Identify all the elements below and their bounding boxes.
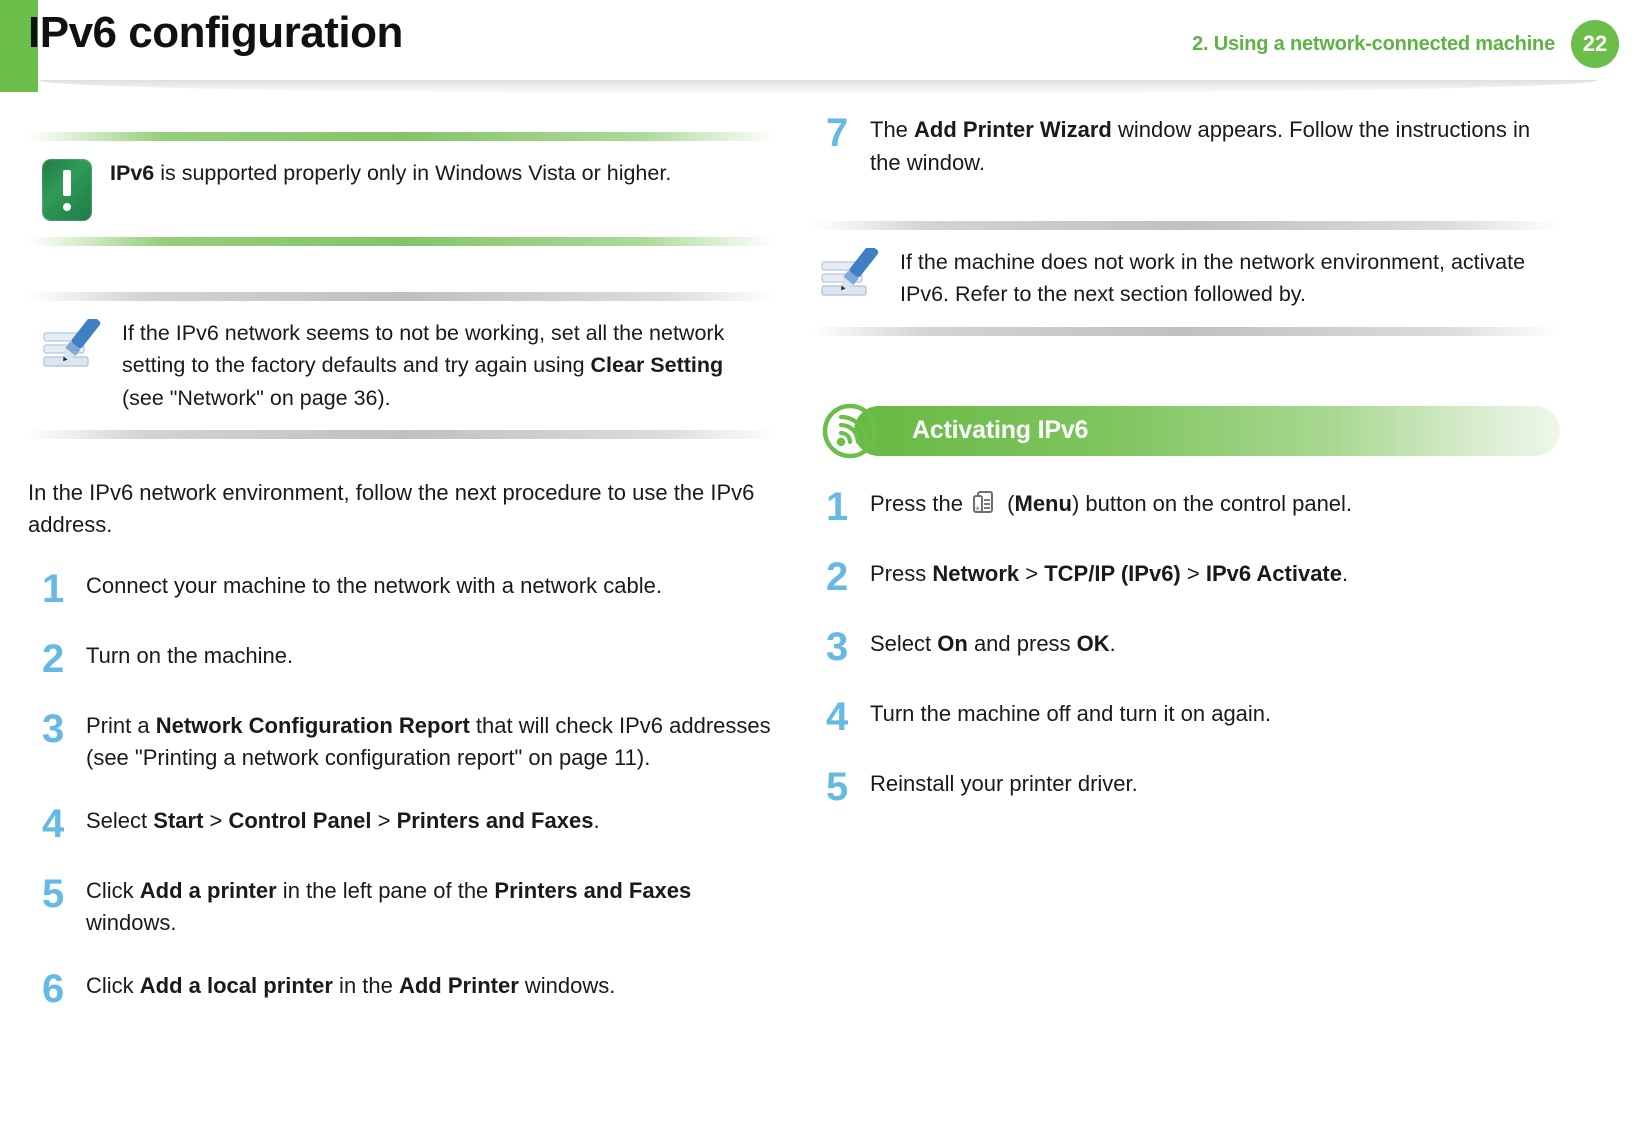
step-text-mid1: >	[1019, 561, 1044, 586]
step-number: 4	[28, 803, 86, 845]
page-number-badge: 22	[1571, 20, 1619, 68]
step-item: 4 Turn the machine off and turn it on ag…	[812, 696, 1560, 738]
info-note-body-right: If the machine does not work in the netw…	[812, 230, 1560, 327]
step-text-mid1: and press	[968, 631, 1077, 656]
step-text-post: .	[593, 808, 599, 833]
step-text-mid2: >	[371, 808, 396, 833]
step-text: Press the * (Menu) button on the control…	[870, 486, 1560, 521]
note-rule-bottom	[28, 237, 776, 246]
step-text: Click Add a printer in the left pane of …	[86, 873, 776, 940]
step-number: 7	[812, 112, 870, 154]
step-number: 4	[812, 696, 870, 738]
menu-button-icon: *	[972, 489, 998, 517]
step-text-mid1: (	[1001, 491, 1014, 516]
step-number: 1	[28, 568, 86, 610]
info-note-text-right: If the machine does not work in the netw…	[900, 246, 1554, 311]
step-item: 6 Click Add a local printer in the Add P…	[28, 968, 776, 1010]
step-text: Connect your machine to the network with…	[86, 568, 776, 603]
step-text: Press Network > TCP/IP (IPv6) > IPv6 Act…	[870, 556, 1560, 591]
step-text-bold: On	[937, 631, 968, 656]
step-text-bold3: IPv6 Activate	[1206, 561, 1342, 586]
step-text-bold3: Printers and Faxes	[397, 808, 594, 833]
caution-note-box: IPv6 is supported properly only in Windo…	[28, 118, 776, 260]
step-text-post: .	[1342, 561, 1348, 586]
left-column: IPv6 is supported properly only in Windo…	[28, 118, 776, 1038]
page-title: IPv6 configuration	[28, 8, 403, 58]
step-text-bold: Add a printer	[140, 878, 277, 903]
step-text: Turn the machine off and turn it on agai…	[870, 696, 1560, 731]
info-rule-top-right	[812, 221, 1560, 230]
step-text-pre: Press	[870, 561, 932, 586]
step-number: 1	[812, 486, 870, 528]
caution-note-rest: is supported properly only in Windows Vi…	[154, 161, 671, 185]
step-item: 5 Click Add a printer in the left pane o…	[28, 873, 776, 940]
step-item: 1 Press the * (Menu) button on the contr…	[812, 486, 1560, 528]
step-item: 1 Connect your machine to the network wi…	[28, 568, 776, 610]
step-number: 3	[812, 626, 870, 668]
step-text-pre: Click	[86, 878, 140, 903]
step-item: 3 Select On and press OK.	[812, 626, 1560, 668]
header-meta: 2. Using a network-connected machine 22	[1192, 20, 1619, 68]
step-text-pre: Print a	[86, 713, 156, 738]
step-text-bold: Menu	[1015, 491, 1072, 516]
right-column: 7 The Add Printer Wizard window appears.…	[812, 118, 1560, 836]
step-text-mid1: in the	[333, 973, 399, 998]
step-text-bold2: OK	[1077, 631, 1110, 656]
step-text: Turn on the machine.	[86, 638, 776, 673]
step-number: 5	[812, 766, 870, 808]
note-pen-icon	[820, 248, 882, 306]
step-text: Select Start > Control Panel > Printers …	[86, 803, 776, 838]
section-header: Activating IPv6	[812, 402, 1560, 460]
step-text-mid2: >	[1181, 561, 1206, 586]
step-text-bold: Network	[932, 561, 1019, 586]
step-number: 2	[28, 638, 86, 680]
step-text: Print a Network Configuration Report tha…	[86, 708, 776, 775]
info-note-text-left: If the IPv6 network seems to not be work…	[122, 317, 770, 414]
caution-note-text: IPv6 is supported properly only in Windo…	[110, 157, 770, 189]
info-rule-top-left	[28, 292, 776, 301]
section-header-title: Activating IPv6	[912, 416, 1088, 445]
step-item: 5 Reinstall your printer driver.	[812, 766, 1560, 808]
info-note-line3-rest: (see "Network" on page 36).	[122, 386, 391, 410]
svg-text:*: *	[975, 503, 980, 517]
note-rule-top	[28, 132, 776, 141]
step-text-post: .	[1110, 631, 1116, 656]
step-number: 5	[28, 873, 86, 915]
note-pen-icon	[42, 319, 104, 377]
info-rule-bottom-right	[812, 327, 1560, 336]
step-number: 3	[28, 708, 86, 750]
step-text-bold2: Add Printer	[399, 973, 519, 998]
step-item: 2 Turn on the machine.	[28, 638, 776, 680]
step-text-post: windows.	[519, 973, 616, 998]
wireless-signal-icon	[812, 402, 892, 460]
caution-note-body: IPv6 is supported properly only in Windo…	[28, 141, 776, 237]
step-text-mid2: ) button on the control panel.	[1072, 491, 1352, 516]
step-text-bold: Add Printer Wizard	[914, 117, 1112, 142]
step-item: 3 Print a Network Configuration Report t…	[28, 708, 776, 775]
intro-paragraph: In the IPv6 network environment, follow …	[28, 477, 776, 542]
info-note-line1: If the machine does not work in the netw…	[900, 250, 1445, 274]
header-shadow	[38, 80, 1598, 94]
right-steps-list: 1 Press the * (Menu) button on the contr…	[812, 486, 1560, 808]
step-item: 2 Press Network > TCP/IP (IPv6) > IPv6 A…	[812, 556, 1560, 598]
step-text-pre: Click	[86, 973, 140, 998]
info-note-box-right: If the machine does not work in the netw…	[812, 207, 1560, 350]
info-note-line1: If the IPv6 network seems to not be work…	[122, 321, 643, 345]
step-text-pre: Select	[86, 808, 153, 833]
step-text: Select On and press OK.	[870, 626, 1560, 661]
step-text: The Add Printer Wizard window appears. F…	[870, 112, 1560, 179]
page-header: IPv6 configuration 2. Using a network-co…	[0, 0, 1641, 92]
step-text: Reinstall your printer driver.	[870, 766, 1560, 801]
info-note-box-left: If the IPv6 network seems to not be work…	[28, 278, 776, 453]
step-text-bold: Network Configuration Report	[156, 713, 470, 738]
step-text-bold2: TCP/IP (IPv6)	[1044, 561, 1181, 586]
step-number: 2	[812, 556, 870, 598]
info-note-body-left: If the IPv6 network seems to not be work…	[28, 301, 776, 430]
step-text-bold: Add a local printer	[140, 973, 333, 998]
step-text-pre: The	[870, 117, 914, 142]
step-item: 7 The Add Printer Wizard window appears.…	[812, 112, 1560, 179]
caution-note-bold: IPv6	[110, 161, 154, 185]
step-text: Click Add a local printer in the Add Pri…	[86, 968, 776, 1003]
chapter-label: 2. Using a network-connected machine	[1192, 33, 1555, 56]
step-text-mid1: in the left pane of the	[277, 878, 495, 903]
info-note-bold: Clear Setting	[591, 353, 724, 377]
step-number: 6	[28, 968, 86, 1010]
step-text-pre: Select	[870, 631, 937, 656]
step-text-pre: Press the	[870, 491, 969, 516]
info-rule-bottom-left	[28, 430, 776, 439]
step-text-bold2: Control Panel	[228, 808, 371, 833]
exclamation-icon	[42, 159, 92, 221]
step-text-bold2: Printers and Faxes	[494, 878, 691, 903]
step-text-post: windows.	[86, 910, 176, 935]
step-item: 4 Select Start > Control Panel > Printer…	[28, 803, 776, 845]
left-steps-list: 1 Connect your machine to the network wi…	[28, 568, 776, 1010]
step-text-bold: Start	[153, 808, 203, 833]
step-text-mid1: >	[203, 808, 228, 833]
